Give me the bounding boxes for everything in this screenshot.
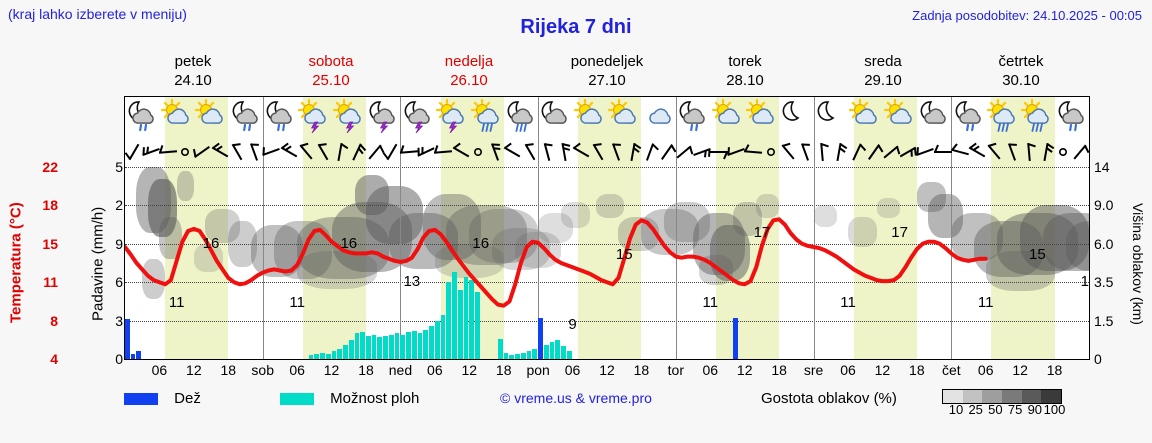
x-label-06-24: 06 <box>978 362 994 378</box>
day-header-ponedeljek: ponedeljek27.10 <box>538 52 676 92</box>
temp-extreme-label-3: 16 <box>340 235 357 252</box>
cloud-tick-1: 9.0 <box>1094 197 1113 213</box>
day-header-nedelja: nedelja26.10 <box>400 52 538 92</box>
temp-extreme-label-4: 13 <box>404 273 421 290</box>
cloud-density-tick-50: 50 <box>988 402 1002 417</box>
temperature-curve <box>125 167 1089 359</box>
x-axis-time-labels: 061218sob061218ned061218pon061218tor0612… <box>125 362 1089 382</box>
day-header-torek: torek28.10 <box>676 52 814 92</box>
temp-tick-2: 15 <box>42 236 58 252</box>
x-label-sob-3: sob <box>251 362 274 378</box>
wind-barb <box>796 141 814 163</box>
cloud-tick-5: 0 <box>1094 351 1102 367</box>
x-label-12-21: 12 <box>875 362 891 378</box>
cloud-tick-3: 3.5 <box>1094 274 1113 290</box>
precip-tick-5: 0 <box>115 351 123 367</box>
temperature-axis-ticks: 2218151184 <box>30 167 58 359</box>
x-label-18-26: 18 <box>1047 362 1063 378</box>
day-date: 27.10 <box>538 71 676 90</box>
temp-tick-1: 18 <box>42 197 58 213</box>
temp-tick-4: 8 <box>50 313 58 329</box>
day-date: 29.10 <box>814 71 952 90</box>
wind-barb-strip <box>125 137 1089 167</box>
day-header-sreda: sreda29.10 <box>814 52 952 92</box>
x-label-18-2: 18 <box>220 362 236 378</box>
precip-tick-0: 5 <box>115 159 123 175</box>
legend-rain-label: Dež <box>174 390 201 407</box>
temp-extreme-label-13: 15 <box>1029 246 1046 263</box>
temp-tick-5: 4 <box>50 351 58 367</box>
x-label-06-8: 06 <box>427 362 443 378</box>
temp-tick-3: 11 <box>43 274 58 290</box>
x-label-18-18: 18 <box>771 362 787 378</box>
precipitation-axis-title: Padavine (mm/h) <box>86 168 110 360</box>
temp-extreme-label-5: 16 <box>472 235 489 252</box>
x-label-06-4: 06 <box>289 362 305 378</box>
chart-legend: Dež Možnost ploh © vreme.us & vreme.pro … <box>124 388 1144 416</box>
cloud-height-axis-ticks: 149.06.03.51.50 <box>1092 167 1126 359</box>
shower-swatch <box>280 393 314 405</box>
cloud-density-tick-75: 75 <box>1008 402 1022 417</box>
rain-swatch <box>124 393 158 405</box>
day-date: 30.10 <box>952 71 1090 90</box>
x-label-18-6: 18 <box>358 362 374 378</box>
wind-barb <box>1003 141 1021 163</box>
day-header-row: petek24.10sobota25.10nedelja26.10ponedel… <box>124 52 1090 92</box>
day-date: 28.10 <box>676 71 814 90</box>
wind-barb <box>1071 141 1089 163</box>
cloud-height-axis-title: Višina oblakov (km) <box>1126 168 1150 360</box>
temp-extreme-label-14: 13 <box>1081 273 1089 290</box>
temp-tick-0: 22 <box>42 159 58 175</box>
x-label-06-12: 06 <box>565 362 581 378</box>
temp-extreme-label-1: 16 <box>203 235 220 252</box>
day-header-sobota: sobota25.10 <box>262 52 400 92</box>
temp-extreme-label-12: 11 <box>978 294 994 311</box>
cloud-density-tick-10: 10 <box>949 402 963 417</box>
day-name: nedelja <box>400 52 538 71</box>
weather-icon-moon-cloud-drizzle <box>1055 99 1095 139</box>
weather-icon-strip <box>125 97 1089 137</box>
day-name: četrtek <box>952 52 1090 71</box>
day-name: ponedeljek <box>538 52 676 71</box>
x-label-06-0: 06 <box>152 362 168 378</box>
legend-shower-label: Možnost ploh <box>330 390 419 407</box>
x-label-18-10: 18 <box>496 362 512 378</box>
day-date: 25.10 <box>262 71 400 90</box>
cloud-density-tick-90: 90 <box>1028 402 1042 417</box>
x-label-sre-19: sre <box>804 362 823 378</box>
wind-barb <box>159 141 177 163</box>
day-name: sreda <box>814 52 952 71</box>
day-name: torek <box>676 52 814 71</box>
day-name: petek <box>124 52 262 71</box>
day-name: sobota <box>262 52 400 71</box>
x-label-12-17: 12 <box>737 362 753 378</box>
x-label-12-13: 12 <box>599 362 615 378</box>
temperature-axis-title: Temperatura (°C) <box>4 168 28 358</box>
x-label-tor-15: tor <box>668 362 684 378</box>
legend-rain: Dež <box>124 390 201 407</box>
x-label-12-9: 12 <box>461 362 477 378</box>
cloud-tick-2: 6.0 <box>1094 236 1113 252</box>
precip-tick-3: 6 <box>115 274 123 290</box>
day-date: 26.10 <box>400 71 538 90</box>
x-label-06-16: 06 <box>702 362 718 378</box>
x-label-čet-23: čet <box>942 362 961 378</box>
x-label-12-1: 12 <box>186 362 202 378</box>
x-label-06-20: 06 <box>840 362 856 378</box>
day-date: 24.10 <box>124 71 262 90</box>
temp-extreme-label-7: 15 <box>616 246 633 263</box>
cloud-density-legend-label: Gostota oblakov (%) <box>761 390 897 407</box>
precipitation-axis-ticks: 529630 <box>108 167 124 359</box>
temp-extreme-label-10: 11 <box>840 294 856 311</box>
precip-tick-4: 3 <box>115 313 123 329</box>
last-update-label: Zadnja posodobitev: 24.10.2025 - 00:05 <box>912 8 1142 23</box>
temp-extreme-label-9: 17 <box>754 224 771 241</box>
cloud-tick-0: 14 <box>1094 159 1110 175</box>
x-label-18-14: 18 <box>634 362 650 378</box>
temp-extreme-label-11: 17 <box>891 224 908 241</box>
chart-canvas: 11161116131691511171117111513 <box>125 167 1089 359</box>
temp-extreme-label-6: 9 <box>568 316 576 333</box>
precip-tick-2: 9 <box>115 236 123 252</box>
x-label-ned-7: ned <box>389 362 412 378</box>
cloud-density-tick-25: 25 <box>968 402 982 417</box>
cloud-density-tick-100: 100 <box>1044 402 1066 417</box>
day-header-četrtek: četrtek30.10 <box>952 52 1090 92</box>
temp-extreme-label-8: 11 <box>702 294 718 311</box>
x-label-18-22: 18 <box>909 362 925 378</box>
legend-shower: Možnost ploh <box>280 390 419 407</box>
x-label-12-25: 12 <box>1012 362 1028 378</box>
x-label-pon-11: pon <box>526 362 549 378</box>
temp-extreme-label-0: 11 <box>169 294 185 311</box>
temp-extreme-label-2: 11 <box>289 294 305 311</box>
x-label-12-5: 12 <box>324 362 340 378</box>
precip-tick-1: 2 <box>115 197 123 213</box>
cloud-tick-4: 1.5 <box>1094 313 1113 329</box>
copyright-link[interactable]: © vreme.us & vreme.pro <box>500 390 652 406</box>
cloud-density-colorbar-ticks: 1025507590100 <box>936 402 1068 420</box>
day-header-petek: petek24.10 <box>124 52 262 92</box>
